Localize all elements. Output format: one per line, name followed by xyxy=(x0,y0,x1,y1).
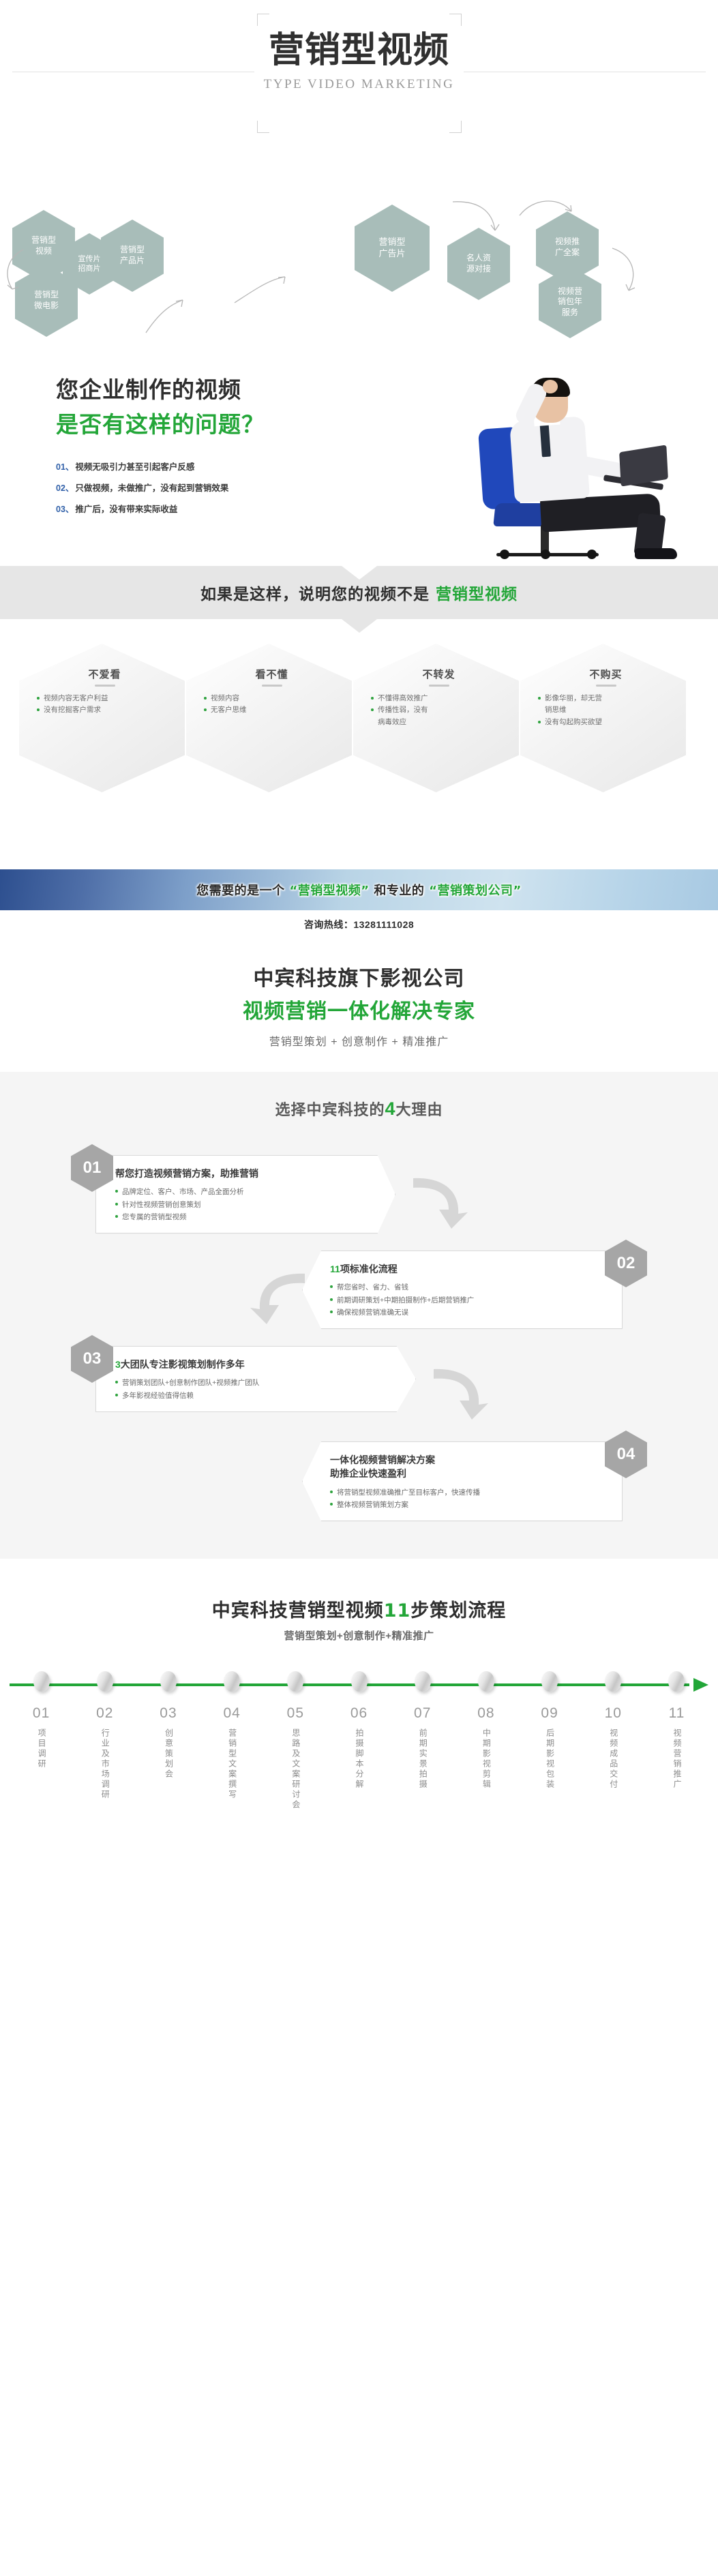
timeline-step-03[interactable]: 03 创意策划会 xyxy=(136,1671,200,1814)
timeline-step-number: 09 xyxy=(518,1705,582,1722)
timeline-dot-icon xyxy=(33,1671,50,1692)
reason-title-number: 11 xyxy=(330,1263,340,1274)
chair-wheel xyxy=(541,550,550,559)
arrow-connector-5-icon xyxy=(226,273,288,311)
timeline-step-label: 拍摄脚本分解 xyxy=(352,1728,366,1790)
gray-strip-prefix: 如果是这样，说明您的视频不是 xyxy=(200,586,436,603)
badge-label: 03 xyxy=(83,1349,102,1368)
hero-section: 营销型视频 TYPE VIDEO MARKETING xyxy=(0,0,718,170)
list-item: 营销策划团队+创意制作团队+视频推广团队 xyxy=(115,1377,385,1389)
list-item: 没有勾起购买欲望 xyxy=(538,717,674,728)
timeline-dot-icon xyxy=(415,1671,431,1692)
company-tagline: 营销型策划 + 创意制作 + 精准推广 xyxy=(0,1032,718,1049)
list-item: 视频内容 xyxy=(204,693,340,704)
timeline-step-label: 后期影视包装 xyxy=(543,1728,557,1790)
cta-blue-banner: 您需要的是一个 “营销型视频” 和专业的 “营销策划公司” xyxy=(0,869,718,910)
timeline-step-number: 01 xyxy=(10,1705,73,1722)
timeline-step-label: 营销型文案撰写 xyxy=(225,1728,239,1800)
cta-quote-1: “营销型视频” xyxy=(289,884,369,898)
phex-title: 看不懂 xyxy=(204,667,340,681)
cta-part-2: 和专业的 xyxy=(370,884,430,898)
flow-arrow-1-icon xyxy=(409,1171,470,1233)
person-shoe xyxy=(635,548,677,559)
hex-label: 营销型微电影 xyxy=(31,290,61,311)
problem-item-number: 02、 xyxy=(56,483,74,493)
timeline-dot-icon xyxy=(605,1671,621,1692)
problem-item-text: 只做视频，未做推广，没有起到营销效果 xyxy=(75,483,228,493)
timeline-step-label: 创意策划会 xyxy=(161,1728,175,1780)
reasons-section: 选择中宾科技的4大理由 01 帮您打造视频营销方案，助推营销 品牌定位、客户、市… xyxy=(0,1072,718,1559)
list-item: 针对性视频营销创意策划 xyxy=(115,1199,365,1211)
reason-row-1: 01 帮您打造视频营销方案，助推营销 品牌定位、客户、市场、产品全面分析 针对性… xyxy=(0,1141,718,1237)
problem-hex-cards: 不爱看 视频内容无客户利益 没有挖掘客户需求 看不懂 视频内容 无客户思维 不转… xyxy=(0,644,718,790)
arrow-connector-4-icon xyxy=(1,247,34,296)
reason-title-number: 3 xyxy=(115,1359,121,1370)
phex-title: 不转发 xyxy=(371,667,507,681)
timeline-step-label: 视频营销推广 xyxy=(670,1728,684,1790)
badge-label: 04 xyxy=(617,1445,635,1464)
timeline-step-number: 11 xyxy=(645,1705,708,1722)
list-item: 帮您省时、省力、省钱 xyxy=(330,1281,607,1293)
hex-label: 营销型产品片 xyxy=(117,245,147,266)
list-item: 02、只做视频，未做推广，没有起到营销效果 xyxy=(56,481,265,494)
phex-not-watch[interactable]: 不爱看 视频内容无客户利益 没有挖掘客户需求 xyxy=(19,644,185,792)
phex-title: 不购买 xyxy=(538,667,674,681)
timeline-dot-icon xyxy=(668,1671,685,1692)
problem-list: 01、视频无吸引力甚至引起客户反感 02、只做视频，未做推广，没有起到营销效果 … xyxy=(56,460,265,515)
timeline-step-06[interactable]: 06 拍摄脚本分解 xyxy=(327,1671,391,1814)
phex-not-buy[interactable]: 不购买 影像华丽，却无营 销思维 没有勾起购买欲望 xyxy=(520,644,686,792)
list-item: 您专属的营销型视频 xyxy=(115,1211,365,1223)
reason-card-title: 11项标准化流程 xyxy=(330,1262,607,1276)
timeline-dot-icon xyxy=(541,1671,558,1692)
cta-banner-section: 您需要的是一个 “营销型视频” 和专业的 “营销策划公司” 咨询热线：13281… xyxy=(0,869,718,931)
list-item: 没有挖掘客户需求 xyxy=(37,704,173,716)
company-headline: 中宾科技旗下影视公司 xyxy=(0,961,718,991)
reason-card-03[interactable]: 3大团队专注影视策划制作多年 营销策划团队+创意制作团队+视频推广团队 多年影视… xyxy=(95,1346,416,1412)
timeline-step-09[interactable]: 09 后期影视包装 xyxy=(518,1671,582,1814)
timeline-step-01[interactable]: 01 项目调研 xyxy=(10,1671,73,1814)
hex-label: 名人资源对接 xyxy=(464,253,494,274)
problem-item-number: 03、 xyxy=(56,505,74,514)
timeline-tagline: 营销型策划+创意制作+精准推广 xyxy=(0,1628,718,1643)
list-item: 将营销型视频准确推广至目标客户，快速传播 xyxy=(330,1486,607,1499)
list-item: 多年影视经验值得信赖 xyxy=(115,1390,385,1402)
hex-label: 宣传片招商片 xyxy=(76,254,104,274)
reasons-heading-number: 4 xyxy=(385,1098,395,1119)
timeline-step-label: 思路及文案研讨会 xyxy=(288,1728,303,1810)
timeline-heading: 中宾科技营销型视频11步策划流程 xyxy=(0,1596,718,1622)
list-item: 无客户思维 xyxy=(204,704,340,716)
hex-label: 营销型广告片 xyxy=(376,237,408,260)
reason-card-01[interactable]: 帮您打造视频营销方案，助推营销 品牌定位、客户、市场、产品全面分析 针对性视频营… xyxy=(95,1155,395,1233)
timeline-track: 01 项目调研 02 行业及市场调研 03 创意策划会 04 营销型文案撰写 xyxy=(0,1671,718,1814)
list-item: 01、视频无吸引力甚至引起客户反感 xyxy=(56,460,265,473)
reason-row-2: 02 11项标准化流程 帮您省时、省力、省钱 前期调研策划+中期拍摄制作+后期营… xyxy=(0,1237,718,1332)
timeline-step-number: 02 xyxy=(73,1705,136,1722)
reason-bullet-list: 将营销型视频准确推广至目标客户，快速传播 整体视频营销策划方案 xyxy=(330,1486,607,1512)
list-item: 不懂得高效推广 xyxy=(371,693,507,704)
badge-label: 01 xyxy=(83,1158,102,1178)
timeline-step-11[interactable]: 11 视频营销推广 xyxy=(645,1671,708,1814)
flow-arrow-2-icon xyxy=(248,1267,309,1329)
arrow-connector-2-icon xyxy=(518,195,580,229)
timeline-step-05[interactable]: 05 思路及文案研讨会 xyxy=(264,1671,327,1814)
person-hand xyxy=(543,380,558,393)
timeline-step-label: 行业及市场调研 xyxy=(98,1728,112,1800)
laptop-screen xyxy=(619,445,668,486)
hotline-text: 咨询热线：13281111028 xyxy=(0,910,718,931)
hex-ad-film[interactable]: 营销型广告片 xyxy=(355,205,430,292)
page-subtitle-en: TYPE VIDEO MARKETING xyxy=(257,77,462,92)
reasons-heading-prefix: 选择中宾科技的 xyxy=(275,1101,385,1118)
timeline-step-07[interactable]: 07 前期实景拍摄 xyxy=(391,1671,454,1814)
company-subheadline: 视频营销一体化解决专家 xyxy=(0,994,718,1024)
timeline-step-number: 10 xyxy=(582,1705,645,1722)
phex-bullet-list: 不懂得高效推广 传播性弱，没有 病毒效应 xyxy=(371,693,507,728)
cta-banner-text: 您需要的是一个 “营销型视频” 和专业的 “营销策划公司” xyxy=(196,881,522,899)
phex-bullet-list: 视频内容无客户利益 没有挖掘客户需求 xyxy=(37,693,173,717)
timeline-step-label: 视频成品交付 xyxy=(606,1728,620,1790)
arrow-connector-1-icon xyxy=(450,198,505,239)
list-item: 整体视频营销策划方案 xyxy=(330,1499,607,1511)
hex-label: 视频营销包年服务 xyxy=(555,286,585,318)
frame-corner-bottom-left-icon xyxy=(257,121,269,133)
frame-corner-top-right-icon xyxy=(449,14,462,26)
timeline-step-label: 项目调研 xyxy=(34,1728,48,1769)
timeline-step-02[interactable]: 02 行业及市场调研 xyxy=(73,1671,136,1814)
timeline-dot-icon xyxy=(224,1671,240,1692)
arrow-connector-6-icon xyxy=(140,297,222,338)
divider xyxy=(596,685,616,687)
reason-bullet-list: 帮您省时、省力、省钱 前期调研策划+中期拍摄制作+后期营销推广 确保视频营销准确… xyxy=(330,1281,607,1319)
timeline-step-number: 06 xyxy=(327,1705,391,1722)
frame-corner-top-left-icon xyxy=(257,14,269,26)
timeline-step-08[interactable]: 08 中期影视剪辑 xyxy=(454,1671,518,1814)
arrow-connector-3-icon xyxy=(608,245,649,297)
timeline-dot-icon xyxy=(160,1671,177,1692)
list-item: 视频内容无客户利益 xyxy=(37,693,173,704)
reason-card-02[interactable]: 11项标准化流程 帮您省时、省力、省钱 前期调研策划+中期拍摄制作+后期营销推广… xyxy=(302,1250,623,1329)
reason-card-title: 帮您打造视频营销方案，助推营销 xyxy=(115,1167,365,1180)
cta-part-1: 您需要的是一个 xyxy=(196,884,289,898)
hex-annual-service[interactable]: 视频营销包年服务 xyxy=(539,266,601,338)
phex-not-understand[interactable]: 看不懂 视频内容 无客户思维 xyxy=(186,644,352,792)
timeline-dot-icon xyxy=(351,1671,368,1692)
timeline-dot-icon xyxy=(287,1671,303,1692)
cta-quote-2: “营销策划公司” xyxy=(429,884,522,898)
list-item: 销思维 xyxy=(538,704,674,716)
timeline-step-10[interactable]: 10 视频成品交付 xyxy=(582,1671,645,1814)
timeline-step-number: 04 xyxy=(200,1705,264,1722)
flow-arrow-3-icon xyxy=(430,1362,491,1424)
phex-title: 不爱看 xyxy=(37,667,173,681)
chair-wheel xyxy=(587,550,597,559)
problem-headline-1: 您企业制作的视频 xyxy=(56,372,265,404)
problem-item-text: 推广后，没有带来实际收益 xyxy=(75,505,177,514)
phex-not-share[interactable]: 不转发 不懂得高效推广 传播性弱，没有 病毒效应 xyxy=(353,644,519,792)
spacer xyxy=(0,790,718,869)
timeline-step-04[interactable]: 04 营销型文案撰写 xyxy=(200,1671,264,1814)
reason-card-title: 3大团队专注影视策划制作多年 xyxy=(115,1358,385,1371)
list-item: 前期调研策划+中期拍摄制作+后期营销推广 xyxy=(330,1294,607,1306)
reason-card-title: 一体化视频营销解决方案 助推企业快速盈利 xyxy=(330,1453,607,1481)
phex-bullet-list: 视频内容 无客户思维 xyxy=(204,693,340,717)
divider xyxy=(262,685,282,687)
timeline-step-number: 07 xyxy=(391,1705,454,1722)
timeline-dot-icon xyxy=(478,1671,494,1692)
list-item: 确保视频营销准确无误 xyxy=(330,1306,607,1319)
reason-title-rest: 项标准化流程 xyxy=(340,1263,398,1274)
hero-title-frame: 营销型视频 TYPE VIDEO MARKETING xyxy=(257,14,462,133)
frame-corner-bottom-right-icon xyxy=(449,121,462,133)
problem-section: 您企业制作的视频 是否有这样的问题？ 01、视频无吸引力甚至引起客户反感 02、… xyxy=(0,341,718,566)
timeline-step-number: 05 xyxy=(264,1705,327,1722)
businessman-photo xyxy=(432,341,677,559)
gray-strip-text: 如果是这样，说明您的视频不是 营销型视频 xyxy=(200,581,518,604)
divider xyxy=(95,685,115,687)
list-item: 影像华丽，却无营 xyxy=(538,693,674,704)
timeline-step-number: 03 xyxy=(136,1705,200,1722)
page-title: 营销型视频 xyxy=(257,14,462,73)
list-item: 病毒效应 xyxy=(371,717,507,728)
company-headline-section: 中宾科技旗下影视公司 视频营销一体化解决专家 营销型策划 + 创意制作 + 精准… xyxy=(0,931,718,1072)
timeline-section: 中宾科技营销型视频11步策划流程 营销型策划+创意制作+精准推广 01 项目调研… xyxy=(0,1559,718,1841)
hero-rule-left xyxy=(12,72,254,72)
timeline-step-label: 前期实景拍摄 xyxy=(415,1728,430,1790)
timeline-step-label: 中期影视剪辑 xyxy=(479,1728,493,1790)
gray-statement-strip: 如果是这样，说明您的视频不是 营销型视频 xyxy=(0,566,718,619)
problem-headline-2: 是否有这样的问题？ xyxy=(56,406,265,439)
service-hexagon-cluster: 营销型视频 宣传片招商片 营销型微电影 营销型产品片 营销型广告片 名人资源对接… xyxy=(0,170,718,341)
badge-label: 02 xyxy=(617,1254,635,1273)
phex-bullet-list: 影像华丽，却无营 销思维 没有勾起购买欲望 xyxy=(538,693,674,728)
list-item: 传播性弱，没有 xyxy=(371,704,507,716)
divider xyxy=(429,685,449,687)
timeline-heading-number: 11 xyxy=(384,1600,411,1621)
gray-strip-highlight: 营销型视频 xyxy=(436,586,518,603)
list-item: 品牌定位、客户、市场、产品全面分析 xyxy=(115,1186,365,1198)
timeline-steps: 01 项目调研 02 行业及市场调研 03 创意策划会 04 营销型文案撰写 xyxy=(10,1671,708,1814)
reason-card-04[interactable]: 一体化视频营销解决方案 助推企业快速盈利 将营销型视频准确推广至目标客户，快速传… xyxy=(302,1441,623,1521)
notch-top-icon xyxy=(342,566,377,580)
problem-item-text: 视频无吸引力甚至引起客户反感 xyxy=(75,462,194,472)
reasons-heading-suffix: 大理由 xyxy=(396,1101,443,1118)
list-item: 03、推广后，没有带来实际收益 xyxy=(56,502,265,515)
timeline-heading-prefix: 中宾科技营销型视频 xyxy=(212,1600,384,1621)
chair-wheel xyxy=(500,550,509,559)
reason-bullet-list: 品牌定位、客户、市场、产品全面分析 针对性视频营销创意策划 您专属的营销型视频 xyxy=(115,1186,365,1223)
reason-row-4: 04 一体化视频营销解决方案 助推企业快速盈利 将营销型视频准确推广至目标客户，… xyxy=(0,1428,718,1523)
landing-page: 营销型视频 TYPE VIDEO MARKETING 营销型视频 宣传片招商片 … xyxy=(0,0,718,1841)
hero-rule-right xyxy=(464,72,706,72)
timeline-heading-suffix: 步策划流程 xyxy=(410,1600,506,1621)
notch-bottom-icon xyxy=(342,619,377,633)
problem-item-number: 01、 xyxy=(56,462,74,472)
reason-bullet-list: 营销策划团队+创意制作团队+视频推广团队 多年影视经验值得信赖 xyxy=(115,1377,385,1402)
timeline-step-number: 08 xyxy=(454,1705,518,1722)
problem-copy: 您企业制作的视频 是否有这样的问题？ 01、视频无吸引力甚至引起客户反感 02、… xyxy=(56,372,265,523)
timeline-dot-icon xyxy=(97,1671,113,1692)
reasons-heading: 选择中宾科技的4大理由 xyxy=(0,1098,718,1120)
hex-label: 视频推广全案 xyxy=(552,237,582,258)
reason-title-rest: 大团队专注影视策划制作多年 xyxy=(121,1359,245,1370)
reason-row-3: 03 3大团队专注影视策划制作多年 营销策划团队+创意制作团队+视频推广团队 多… xyxy=(0,1332,718,1428)
